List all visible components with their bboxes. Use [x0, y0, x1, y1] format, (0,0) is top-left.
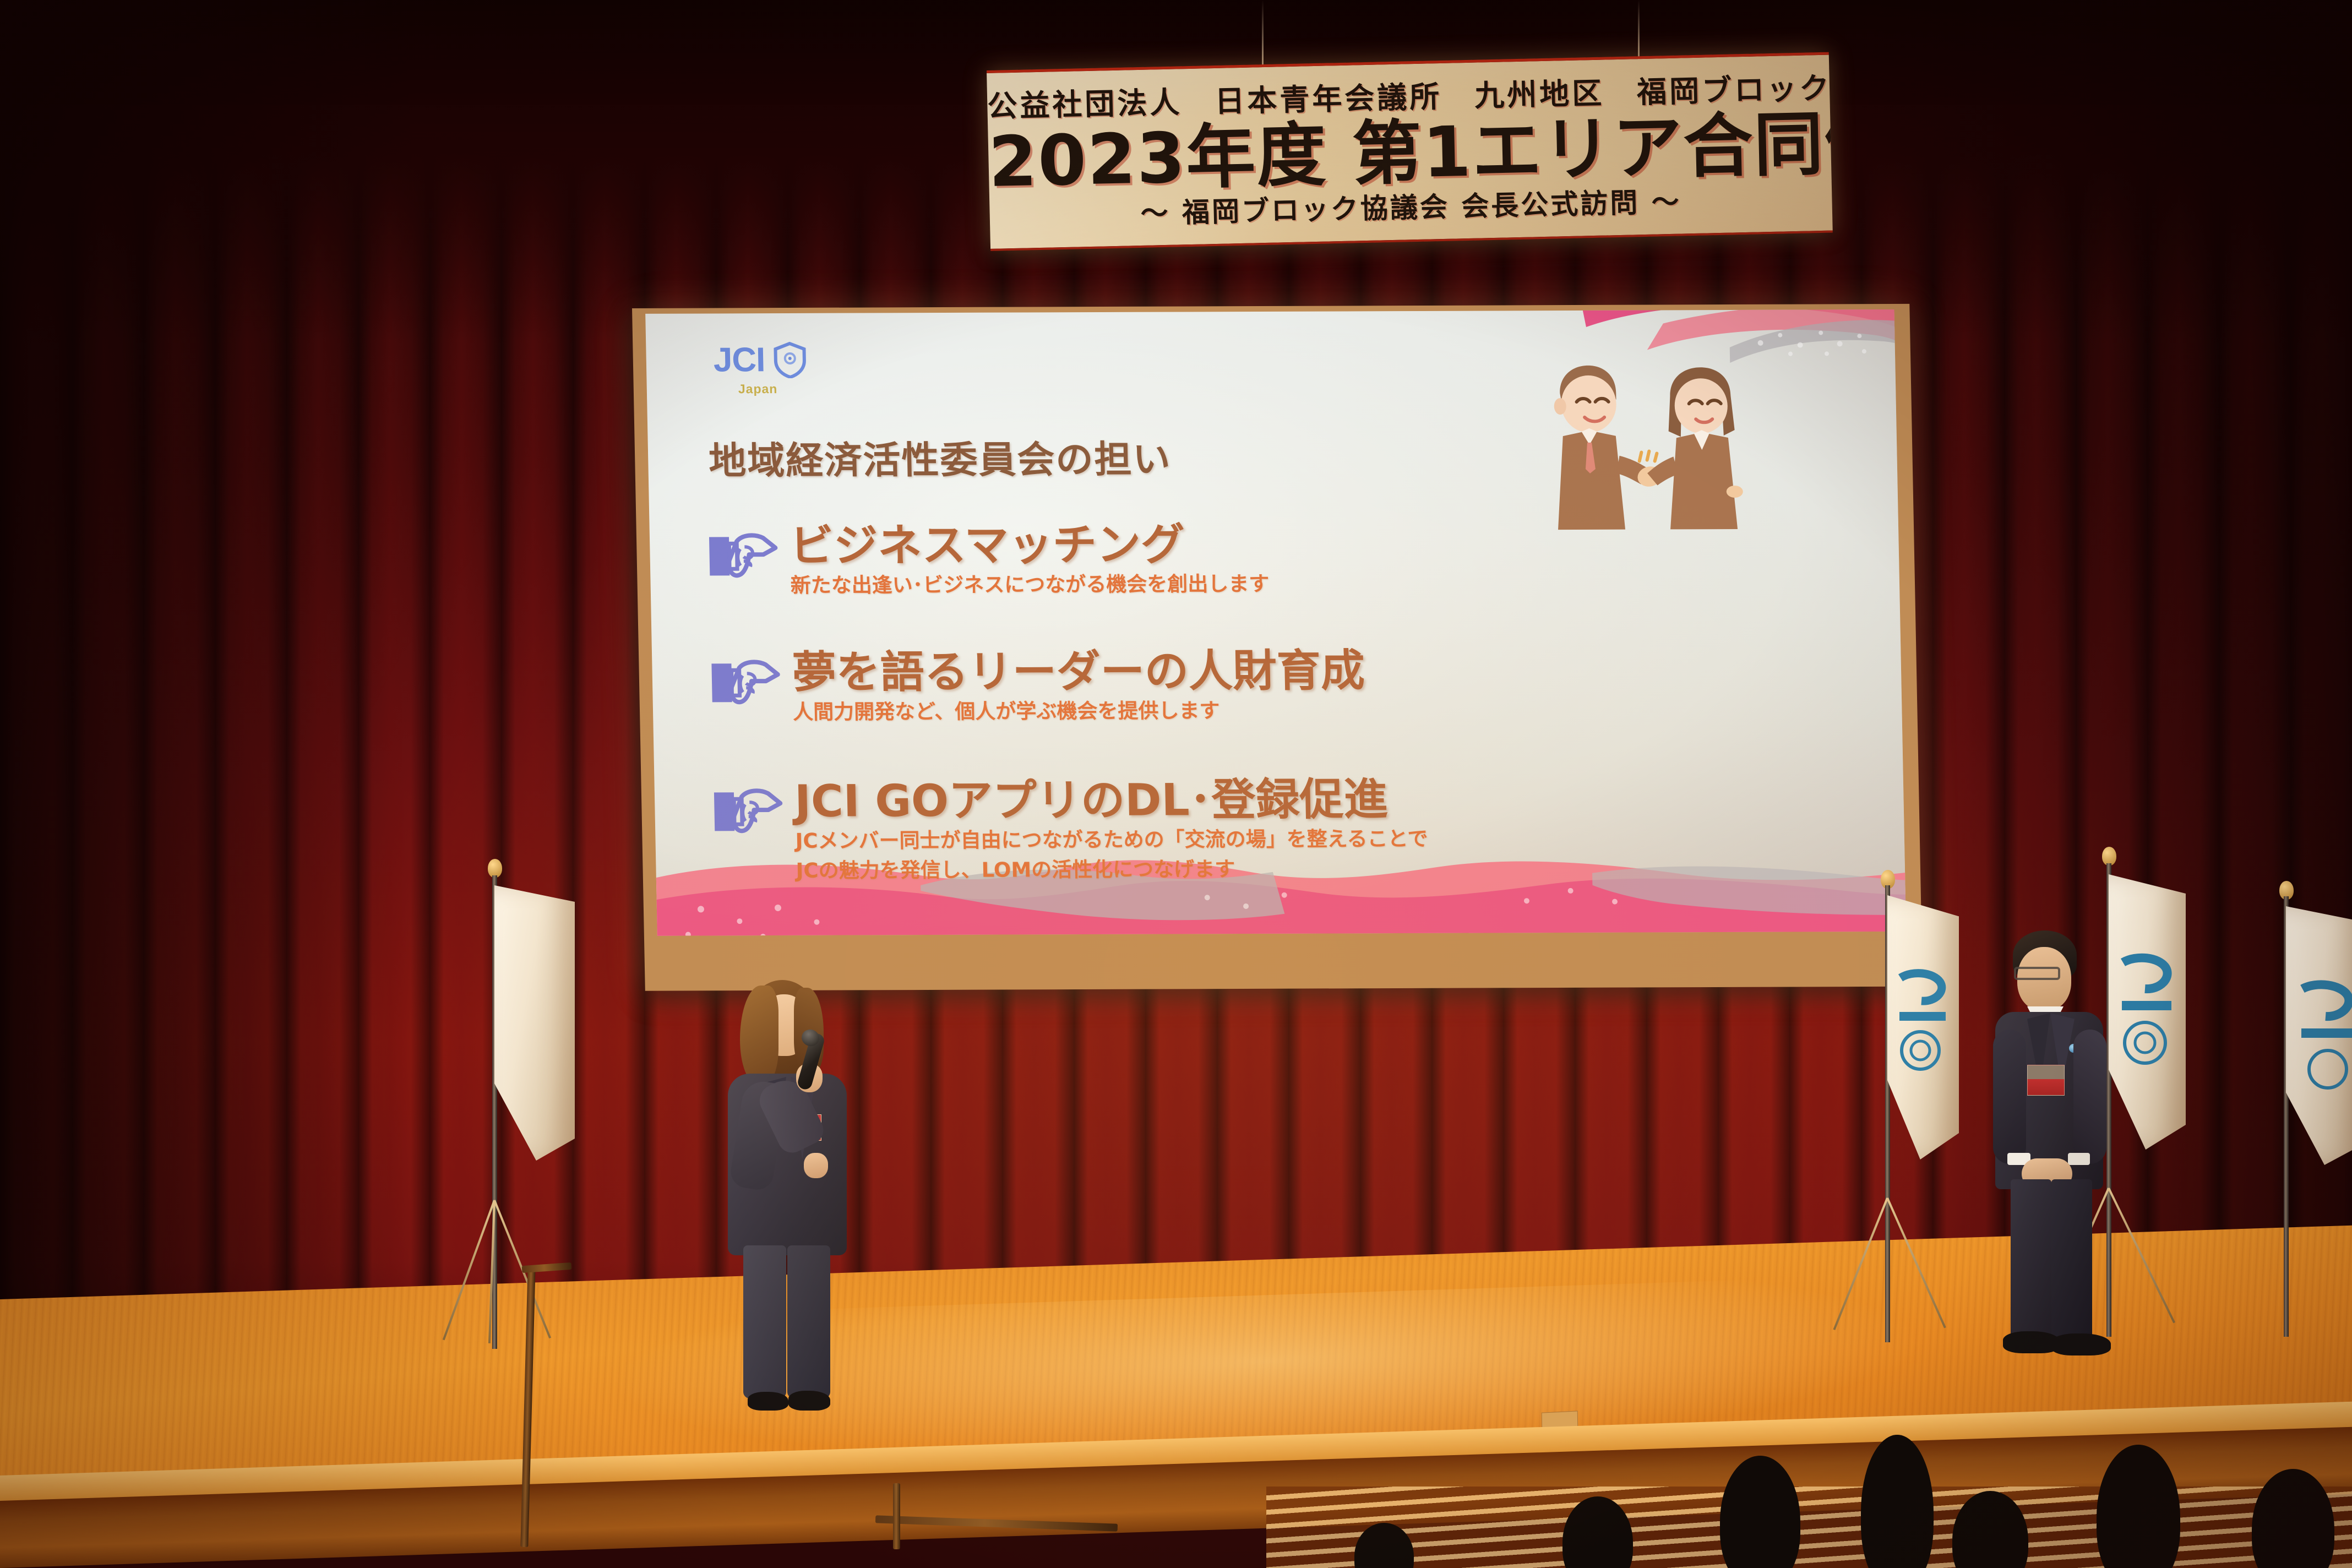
speaker-leg-right: [787, 1245, 830, 1398]
man-arm-left: [1993, 1030, 2026, 1164]
jci-wordmark: JCI: [713, 343, 765, 377]
slide-bullet-3-sub-0: JCメンバー同士が自由につながるための「交流の場」を整えることで: [795, 826, 1428, 854]
projected-slide: JCI Japan 地域経済活性委員会の担い: [645, 309, 1906, 936]
man-leg-left: [2011, 1179, 2051, 1340]
pointing-hand-icon: [708, 527, 778, 586]
flag-cloth-plain: [494, 885, 575, 1161]
stage-step-handrail-post-2: [893, 1483, 900, 1549]
slide-bullet-2-sub-0: 人間力開発など、個人が学ぶ機会を提供します: [793, 698, 1366, 725]
man-leg-right: [2051, 1179, 2092, 1340]
flag-cloth-emblem: [1887, 895, 1959, 1159]
pointing-hand-icon: [710, 654, 781, 713]
slide-heading: 地域経済活性委員会の担い: [708, 429, 1172, 485]
banner-title-line: 2023年度 第1エリア合同例会: [988, 107, 1832, 200]
woman-speaker: [710, 980, 864, 1415]
speaker-leg-left: [743, 1245, 786, 1398]
jci-country-label: Japan: [738, 382, 808, 396]
jci-flag-emblem-icon: [2286, 906, 2352, 1165]
slide-bullet-3-sub-1: JCの魅力を発信し、LOMの活性化につなげます: [796, 856, 1429, 884]
flag-cloth-emblem: [2109, 874, 2186, 1150]
eyeglasses-icon: [2014, 967, 2060, 980]
flag-cloth-emblem: [2286, 906, 2352, 1165]
man-arm-right: [2073, 1030, 2106, 1164]
audience-seat-rows: [1266, 1487, 2352, 1568]
slide-bullet-2: 夢を語るリーダーの人財育成 人間力開発など、個人が学ぶ機会を提供します: [710, 648, 1366, 725]
flag-left-plain: [385, 859, 617, 1354]
flag-finial-icon: [2102, 847, 2116, 865]
pointing-hand-icon: [713, 782, 783, 842]
speaker-hair-front: [740, 986, 778, 1085]
slide-bullet-1-sub-0: 新たな出逢い･ビジネスにつながる機会を創出します: [790, 571, 1269, 598]
jci-flag-emblem-icon: [1887, 895, 1959, 1159]
event-banner: 公益社団法人 日本青年会議所 九州地区 福岡ブロック協議会 2023年度 第1エ…: [987, 52, 1833, 251]
stage-photograph: 公益社団法人 日本青年会議所 九州地区 福岡ブロック協議会 2023年度 第1エ…: [0, 0, 2352, 1568]
flag-finial-icon: [488, 859, 502, 878]
speaker-shoe-right: [788, 1391, 830, 1411]
slide-bullet-1-title: ビジネスマッチング: [790, 522, 1269, 569]
speaker-hand-lower: [804, 1153, 828, 1178]
banner-hanging-wire-left: [1262, 0, 1264, 74]
man-standing: [1977, 930, 2120, 1360]
two-people-handshake-illustration-icon: [1525, 353, 1771, 535]
slide-bullet-3: JCI GOアプリのDL･登録促進 JCメンバー同士が自由につながるための「交流…: [712, 777, 1429, 884]
jci-logo: JCI Japan: [713, 342, 808, 397]
jci-shield-icon: [772, 342, 807, 378]
slide-bullet-3-title: JCI GOアプリのDL･登録促進: [794, 777, 1427, 824]
projection-screen-frame: JCI Japan 地域経済活性委員会の担い: [632, 304, 1923, 991]
jci-flag-emblem-icon: [2109, 874, 2186, 1150]
man-cuff-right: [2068, 1153, 2090, 1165]
slide-bullet-1: ビジネスマッチング 新たな出逢い･ビジネスにつながる機会を創出します: [708, 522, 1270, 599]
man-shoe-right: [2051, 1333, 2111, 1355]
man-name-badge: [2027, 1065, 2065, 1096]
slide-bullet-2-title: 夢を語るリーダーの人財育成: [792, 648, 1365, 695]
curtain-left-shadow: [0, 0, 418, 1371]
speaker-shoe-left: [748, 1392, 788, 1411]
flag-far-right-emblem: [2263, 881, 2352, 1349]
